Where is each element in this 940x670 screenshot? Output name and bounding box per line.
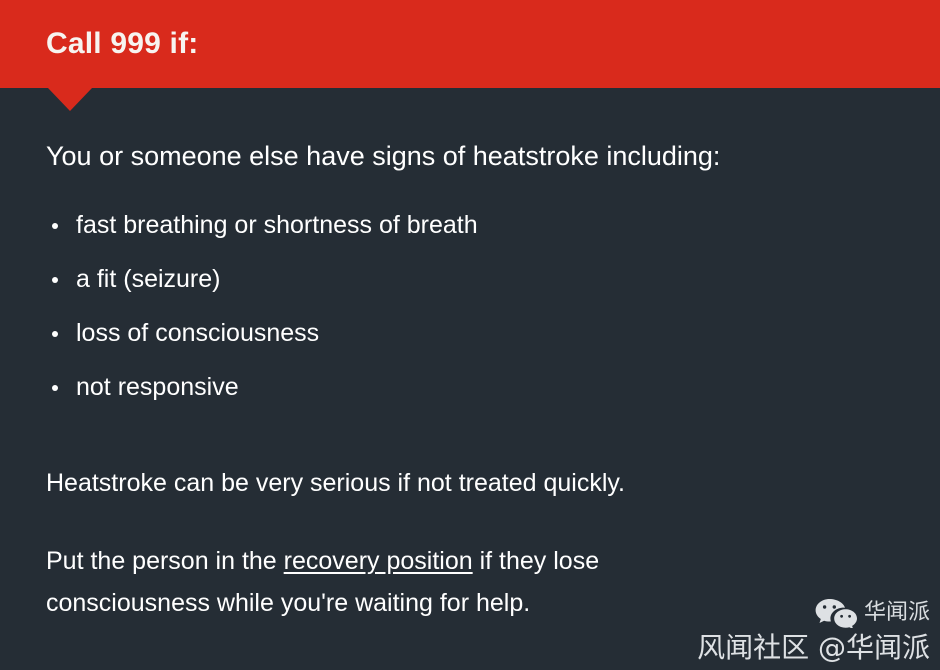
recovery-text-before: Put the person in the xyxy=(46,547,284,575)
callout-title: Call 999 if: xyxy=(46,22,198,66)
list-item: loss of consciousness xyxy=(46,316,866,350)
watermark: 华闻派 风闻社区 @华闻派 xyxy=(734,596,934,666)
recovery-position-link[interactable]: recovery position xyxy=(284,547,473,575)
watermark-handle: 风闻社区 @华闻派 xyxy=(697,632,930,664)
list-item-label: not responsive xyxy=(76,373,239,401)
watermark-top-row: 华闻派 xyxy=(814,598,930,628)
list-item-label: loss of consciousness xyxy=(76,319,319,347)
list-item: fast breathing or shortness of breath xyxy=(46,208,866,242)
list-item: a fit (seizure) xyxy=(46,262,866,296)
callout-body: You or someone else have signs of heatst… xyxy=(0,88,940,670)
watermark-brand-top: 华闻派 xyxy=(864,601,930,625)
callout-header-band: Call 999 if: xyxy=(0,0,940,88)
bullet-dot-icon xyxy=(52,223,58,229)
intro-text: You or someone else have signs of heatst… xyxy=(46,138,720,174)
bullet-dot-icon xyxy=(52,385,58,391)
list-item: not responsive xyxy=(46,370,866,404)
wechat-logo-icon xyxy=(814,598,858,628)
paragraph-recovery: Put the person in the recovery position … xyxy=(46,540,746,624)
paragraph-serious: Heatstroke can be very serious if not tr… xyxy=(46,466,625,500)
bullet-dot-icon xyxy=(52,331,58,337)
list-item-label: a fit (seizure) xyxy=(76,265,220,293)
list-item-label: fast breathing or shortness of breath xyxy=(76,211,478,239)
symptom-list: fast breathing or shortness of breath a … xyxy=(46,208,866,424)
bullet-dot-icon xyxy=(52,277,58,283)
emergency-callout: Call 999 if: You or someone else have si… xyxy=(0,0,940,670)
